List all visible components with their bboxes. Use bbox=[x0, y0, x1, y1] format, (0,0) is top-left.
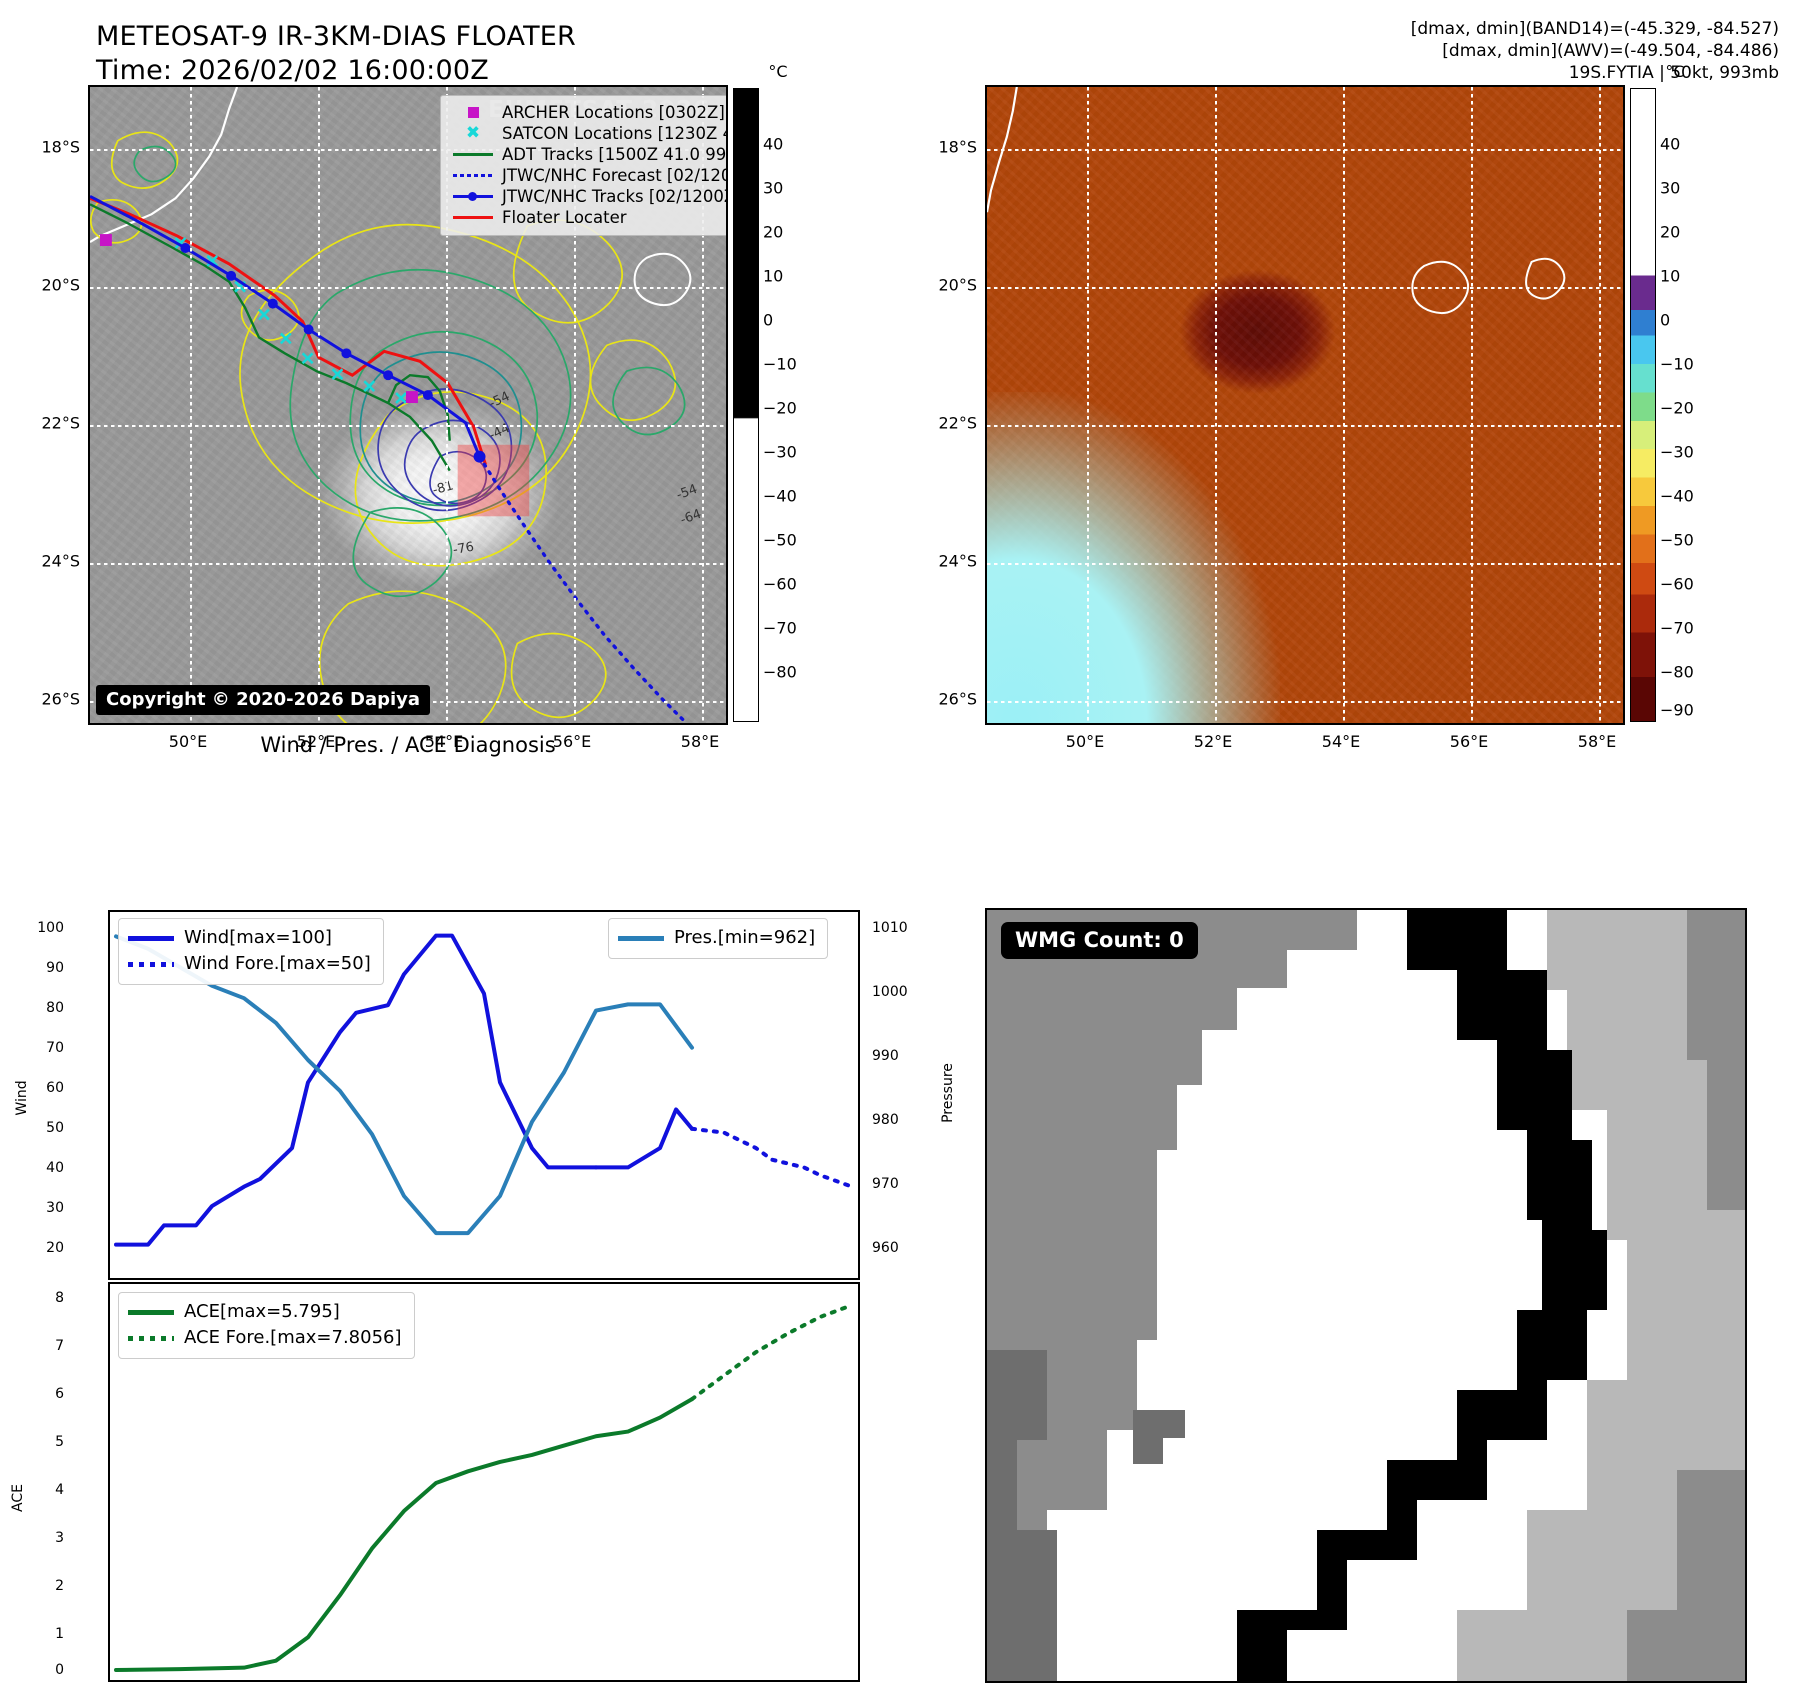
cbar-tick: 0 bbox=[1660, 311, 1670, 330]
y-tick: 90 bbox=[46, 960, 64, 976]
y-tick: 20 bbox=[46, 1240, 64, 1256]
wind-forecast-icon bbox=[128, 962, 180, 967]
cbar-tick: −80 bbox=[763, 663, 797, 682]
cbar-tick: 40 bbox=[1660, 135, 1680, 154]
cbar-tick: −90 bbox=[1660, 701, 1694, 720]
legend-label: Wind Fore.[max=50] bbox=[180, 951, 371, 977]
x-tick: 54°E bbox=[1322, 732, 1360, 751]
y-tick: 8 bbox=[55, 1290, 64, 1306]
cbar-tick: 10 bbox=[763, 267, 783, 286]
legend-item-ace-forecast: ACE Fore.[max=7.8056] bbox=[128, 1325, 402, 1351]
y-tick: 30 bbox=[46, 1200, 64, 1216]
cbar-tick: 30 bbox=[763, 179, 783, 198]
cbar-tick: −40 bbox=[1660, 487, 1694, 506]
legend-label: Pres.[min=962] bbox=[670, 925, 815, 951]
ir2-y-axis-labels: 18°S 20°S 22°S 24°S 26°S bbox=[925, 85, 977, 725]
storm-id-intensity: 19S.FYTIA | 50kt, 993mb bbox=[1411, 62, 1779, 84]
y-tick: 960 bbox=[872, 1240, 899, 1256]
ace-axis-title: ACE bbox=[10, 1468, 26, 1528]
cbar-tick: −60 bbox=[1660, 575, 1694, 594]
enhanced-ir-map[interactable] bbox=[985, 85, 1625, 725]
y-tick: 26°S bbox=[938, 690, 977, 709]
colorbar-gradient bbox=[733, 88, 759, 722]
cbar-tick: −70 bbox=[763, 619, 797, 638]
wind-legend: Wind[max=100] Wind Fore.[max=50] bbox=[118, 918, 384, 985]
y-tick: 2 bbox=[55, 1578, 64, 1594]
legend-label: JTWC/NHC Forecast [02/1200Z] bbox=[496, 165, 728, 186]
cbar-tick: −20 bbox=[763, 399, 797, 418]
y-tick: 1000 bbox=[872, 984, 908, 1000]
ir-floater-map[interactable]: -81 -76 -54 -64 -54 -44 -31 bbox=[88, 85, 728, 725]
cbar-tick: −50 bbox=[763, 531, 797, 550]
legend-item-wind-forecast: Wind Fore.[max=50] bbox=[128, 951, 371, 977]
cbar-tick: −30 bbox=[763, 443, 797, 462]
legend-item-floater-locater: Floater Locater bbox=[450, 207, 728, 228]
y-tick: 6 bbox=[55, 1386, 64, 1402]
y-tick: 50 bbox=[46, 1120, 64, 1136]
product-title: METEOSAT-9 IR-3KM-DIAS FLOATER bbox=[96, 20, 576, 54]
cbar-tick: 40 bbox=[763, 135, 783, 154]
colorbar-ticks: 40 30 20 10 0 −10 −20 −30 −40 −50 −60 −7… bbox=[1660, 88, 1720, 722]
y-tick: 980 bbox=[872, 1112, 899, 1128]
y-tick: 24°S bbox=[938, 552, 977, 571]
y-tick: 20°S bbox=[938, 276, 977, 295]
cbar-tick: 30 bbox=[1660, 179, 1680, 198]
y-tick: 80 bbox=[46, 1000, 64, 1016]
archer-marker-icon bbox=[450, 107, 496, 118]
y-tick: 7 bbox=[55, 1338, 64, 1354]
wmg-map[interactable]: WMG Count: 0 bbox=[985, 908, 1747, 1683]
wmg-count-badge: WMG Count: 0 bbox=[1001, 922, 1198, 959]
storm-stats-header: [dmax, dmin](BAND14)=(-45.329, -84.527) … bbox=[1411, 18, 1779, 84]
legend-label: ACE Fore.[max=7.8056] bbox=[180, 1325, 402, 1351]
pressure-line-icon bbox=[618, 936, 670, 941]
y-tick: 990 bbox=[872, 1048, 899, 1064]
ace-line-icon bbox=[128, 1310, 180, 1315]
legend-label: JTWC/NHC Tracks [02/1200Z] bbox=[496, 186, 728, 207]
cbar-tick: 20 bbox=[1660, 223, 1680, 242]
wind-axis-title: Wind bbox=[14, 1068, 30, 1128]
adt-line-icon bbox=[450, 153, 496, 156]
legend-item-wind: Wind[max=100] bbox=[128, 925, 371, 951]
forecast-dotted-icon bbox=[450, 174, 496, 177]
wind-line-icon bbox=[128, 936, 180, 941]
cbar-tick: 0 bbox=[763, 311, 773, 330]
cbar-tick: −80 bbox=[1660, 663, 1694, 682]
cbar-tick: −20 bbox=[1660, 399, 1694, 418]
map-gridlines bbox=[987, 87, 1623, 723]
x-tick: 56°E bbox=[553, 732, 591, 751]
colorbar-gradient bbox=[1630, 88, 1656, 722]
legend-item-pressure: Pres.[min=962] bbox=[618, 925, 815, 951]
cbar-tick: −50 bbox=[1660, 531, 1694, 550]
legend-item-archer: ARCHER Locations [0302Z] bbox=[450, 102, 728, 123]
legend-label: ACE[max=5.795] bbox=[180, 1299, 340, 1325]
series-line bbox=[596, 1109, 692, 1167]
pressure-legend: Pres.[min=962] bbox=[608, 918, 828, 959]
x-tick: 58°E bbox=[1578, 732, 1616, 751]
pressure-axis-title: Pressure bbox=[940, 1053, 956, 1133]
legend-label: Floater Locater bbox=[496, 207, 627, 228]
copyright-badge: Copyright © 2020-2026 Dapiya bbox=[96, 685, 430, 715]
y-tick: 3 bbox=[55, 1530, 64, 1546]
ir2-x-axis-labels: 50°E 52°E 54°E 56°E 58°E bbox=[985, 732, 1625, 754]
ir-colorbar: °C 40 30 20 10 0 −10 −20 −30 −40 −50 −60… bbox=[733, 88, 823, 722]
cbar-tick: 10 bbox=[1660, 267, 1680, 286]
cbar-tick: 20 bbox=[763, 223, 783, 242]
y-tick: 970 bbox=[872, 1176, 899, 1192]
wmg-imagery bbox=[987, 910, 1745, 1681]
y-tick: 1 bbox=[55, 1626, 64, 1642]
x-tick: 58°E bbox=[681, 732, 719, 751]
y-tick: 4 bbox=[55, 1482, 64, 1498]
pressure-y-ticks: 1010 1000 990 980 970 960 bbox=[872, 910, 928, 1280]
ir-y-axis-labels: 18°S 20°S 22°S 24°S 26°S bbox=[28, 85, 80, 725]
cbar-tick: −40 bbox=[763, 487, 797, 506]
ace-forecast-icon bbox=[128, 1336, 180, 1341]
y-tick: 18°S bbox=[938, 138, 977, 157]
track-line-marker-icon bbox=[450, 195, 496, 198]
band14-extremes: [dmax, dmin](BAND14)=(-45.329, -84.527) bbox=[1411, 18, 1779, 40]
cbar-tick: −30 bbox=[1660, 443, 1694, 462]
y-tick: 26°S bbox=[41, 690, 80, 709]
map-legend: ARCHER Locations [0302Z] ✖ SATCON Locati… bbox=[440, 95, 728, 236]
ace-legend: ACE[max=5.795] ACE Fore.[max=7.8056] bbox=[118, 1292, 415, 1359]
legend-item-jtwc-forecast: JTWC/NHC Forecast [02/1200Z] bbox=[450, 165, 728, 186]
cbar-tick: −70 bbox=[1660, 619, 1694, 638]
legend-label: Wind[max=100] bbox=[180, 925, 332, 951]
diagnosis-title: Wind / Pres. / ACE Diagnosis bbox=[260, 733, 555, 757]
y-tick: 22°S bbox=[41, 414, 80, 433]
y-tick: 24°S bbox=[41, 552, 80, 571]
cbar-tick: −10 bbox=[763, 355, 797, 374]
x-tick: 50°E bbox=[169, 732, 207, 751]
y-tick: 100 bbox=[37, 920, 64, 936]
y-tick: 1010 bbox=[872, 920, 908, 936]
satcon-marker-icon: ✖ bbox=[450, 125, 496, 142]
floater-line-icon bbox=[450, 216, 496, 219]
x-tick: 50°E bbox=[1066, 732, 1104, 751]
x-tick: 56°E bbox=[1450, 732, 1488, 751]
colorbar-unit: °C bbox=[768, 62, 787, 81]
series-line bbox=[116, 1399, 692, 1670]
legend-item-satcon: ✖ SATCON Locations [1230Z 45 997] bbox=[450, 123, 728, 144]
ace-y-ticks: 8 7 6 5 4 3 2 1 0 bbox=[22, 1282, 64, 1682]
colorbar-ticks: 40 30 20 10 0 −10 −20 −30 −40 −50 −60 −7… bbox=[763, 88, 823, 722]
legend-item-jtwc-tracks: JTWC/NHC Tracks [02/1200Z] bbox=[450, 186, 728, 207]
series-line bbox=[692, 1129, 852, 1187]
y-tick: 0 bbox=[55, 1662, 64, 1678]
enhanced-ir-colorbar: °C 40 30 20 10 0 −10 −20 −30 −40 −50 −60… bbox=[1630, 88, 1720, 722]
y-tick: 70 bbox=[46, 1040, 64, 1056]
y-tick: 20°S bbox=[41, 276, 80, 295]
awv-extremes: [dmax, dmin](AWV)=(-49.504, -84.486) bbox=[1411, 40, 1779, 62]
x-tick: 52°E bbox=[1194, 732, 1232, 751]
y-tick: 5 bbox=[55, 1434, 64, 1450]
legend-label: ARCHER Locations [0302Z] bbox=[496, 102, 725, 123]
page-title: METEOSAT-9 IR-3KM-DIAS FLOATER Time: 202… bbox=[96, 20, 576, 88]
y-tick: 60 bbox=[46, 1080, 64, 1096]
legend-item-ace: ACE[max=5.795] bbox=[128, 1299, 402, 1325]
dashboard-root: METEOSAT-9 IR-3KM-DIAS FLOATER Time: 202… bbox=[0, 0, 1797, 1690]
cbar-tick: −10 bbox=[1660, 355, 1694, 374]
legend-label: ADT Tracks [1500Z 41.0 999.0] bbox=[496, 144, 728, 165]
legend-label: SATCON Locations [1230Z 45 997] bbox=[496, 123, 728, 144]
y-tick: 18°S bbox=[41, 138, 80, 157]
product-time: Time: 2026/02/02 16:00:00Z bbox=[96, 54, 576, 88]
cbar-tick: −60 bbox=[763, 575, 797, 594]
series-line bbox=[692, 1305, 852, 1399]
y-tick: 22°S bbox=[938, 414, 977, 433]
y-tick: 40 bbox=[46, 1160, 64, 1176]
colorbar-unit: °C bbox=[1665, 62, 1684, 81]
legend-item-adt: ADT Tracks [1500Z 41.0 999.0] bbox=[450, 144, 728, 165]
